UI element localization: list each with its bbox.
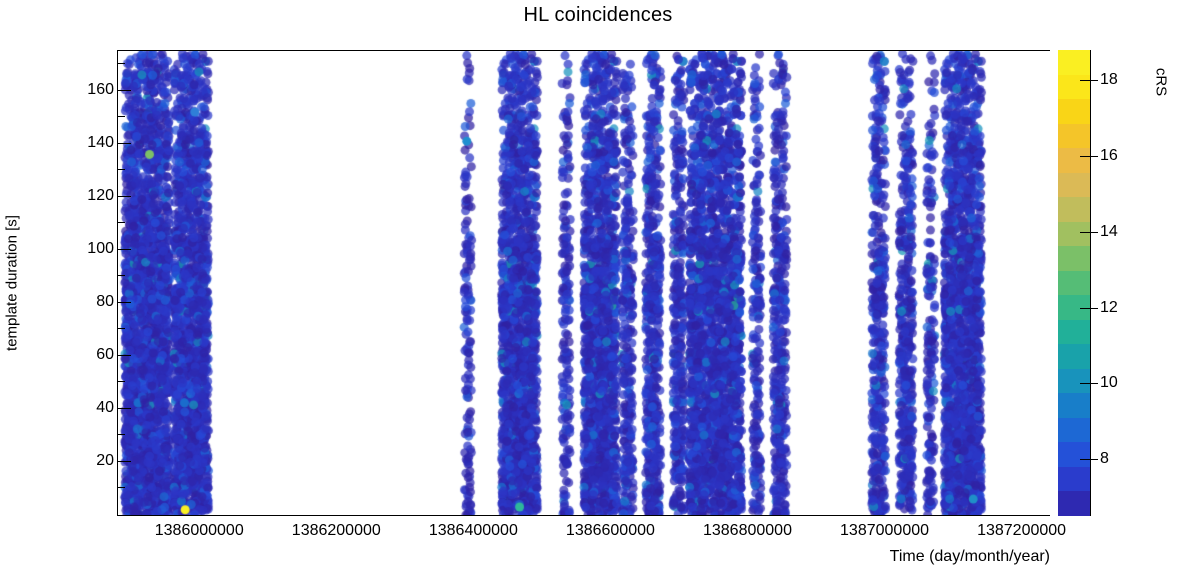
colorbar-tick-label: 8 xyxy=(1100,450,1109,468)
y-tick-major xyxy=(117,461,131,462)
colorbar-tick-label: 14 xyxy=(1100,223,1118,241)
colorbar-border xyxy=(1090,50,1091,516)
colorbar-band xyxy=(1058,344,1090,369)
chart-root: HL coincidences template duration [s] Ti… xyxy=(0,0,1196,572)
y-tick-label: 160 xyxy=(87,81,114,99)
y-tick-minor xyxy=(117,63,125,64)
y-tick-label: 100 xyxy=(87,240,114,258)
y-tick-minor xyxy=(117,487,125,488)
y-tick-major xyxy=(117,143,131,144)
y-tick-major xyxy=(117,249,131,250)
colorbar-tick-label: 16 xyxy=(1100,147,1118,165)
colorbar xyxy=(1058,50,1090,516)
x-axis-title: Time (day/month/year) xyxy=(890,548,1050,566)
colorbar-gradient xyxy=(1058,50,1090,516)
x-tick-label: 1387200000 xyxy=(977,522,1066,540)
colorbar-band xyxy=(1058,222,1090,246)
colorbar-tick-label: 18 xyxy=(1100,71,1118,89)
y-tick-minor xyxy=(117,222,125,223)
x-tick-label: 1386200000 xyxy=(292,522,381,540)
x-tick-label: 1386000000 xyxy=(155,522,244,540)
colorbar-band xyxy=(1058,124,1090,148)
colorbar-title-text: cRS xyxy=(1153,68,1170,96)
y-tick-minor xyxy=(117,328,125,329)
y-tick-major xyxy=(117,408,131,409)
colorbar-band xyxy=(1058,369,1090,393)
colorbar-band xyxy=(1058,173,1090,197)
colorbar-tick-label: 10 xyxy=(1100,374,1118,392)
colorbar-tick xyxy=(1080,308,1098,309)
y-tick-minor xyxy=(117,275,125,276)
colorbar-tick xyxy=(1080,156,1098,157)
colorbar-tick xyxy=(1080,232,1098,233)
colorbar-band xyxy=(1058,50,1090,75)
colorbar-band xyxy=(1058,75,1090,99)
colorbar-band xyxy=(1058,467,1090,491)
y-tick-label: 40 xyxy=(96,399,114,417)
colorbar-band xyxy=(1058,246,1090,271)
colorbar-band xyxy=(1058,320,1090,344)
colorbar-band xyxy=(1058,491,1090,516)
y-tick-label: 80 xyxy=(96,293,114,311)
y-tick-minor xyxy=(117,381,125,382)
y-tick-label: 120 xyxy=(87,187,114,205)
scatter-plot-area xyxy=(118,51,1050,515)
y-axis-title-text: template duration [s] xyxy=(4,215,21,351)
y-tick-label: 60 xyxy=(96,346,114,364)
colorbar-tick xyxy=(1080,459,1098,460)
colorbar-tick-label: 12 xyxy=(1100,299,1118,317)
x-tick-label: 1386600000 xyxy=(566,522,655,540)
y-tick-major xyxy=(117,196,131,197)
colorbar-band xyxy=(1058,148,1090,173)
y-axis-title: template duration [s] xyxy=(0,50,24,516)
x-tick-label: 1386400000 xyxy=(429,522,518,540)
frame-bottom-line xyxy=(117,515,1050,516)
y-tick-major xyxy=(117,355,131,356)
y-tick-label: 20 xyxy=(96,452,114,470)
y-tick-major xyxy=(117,90,131,91)
y-tick-major xyxy=(117,302,131,303)
colorbar-band xyxy=(1058,393,1090,418)
y-tick-minor xyxy=(117,169,125,170)
y-tick-label: 140 xyxy=(87,134,114,152)
colorbar-band xyxy=(1058,418,1090,442)
colorbar-tick xyxy=(1080,80,1098,81)
page-title: HL coincidences xyxy=(0,4,1196,27)
y-tick-minor xyxy=(117,116,125,117)
scatter-canvas xyxy=(118,51,1050,515)
colorbar-title: cRS xyxy=(1150,52,1172,112)
x-tick-label: 1387000000 xyxy=(840,522,929,540)
colorbar-band xyxy=(1058,271,1090,295)
x-tick-label: 1386800000 xyxy=(703,522,792,540)
plot-frame xyxy=(117,50,1050,516)
colorbar-band xyxy=(1058,442,1090,467)
y-tick-minor xyxy=(117,434,125,435)
colorbar-band xyxy=(1058,197,1090,222)
colorbar-tick xyxy=(1080,383,1098,384)
colorbar-band xyxy=(1058,99,1090,124)
